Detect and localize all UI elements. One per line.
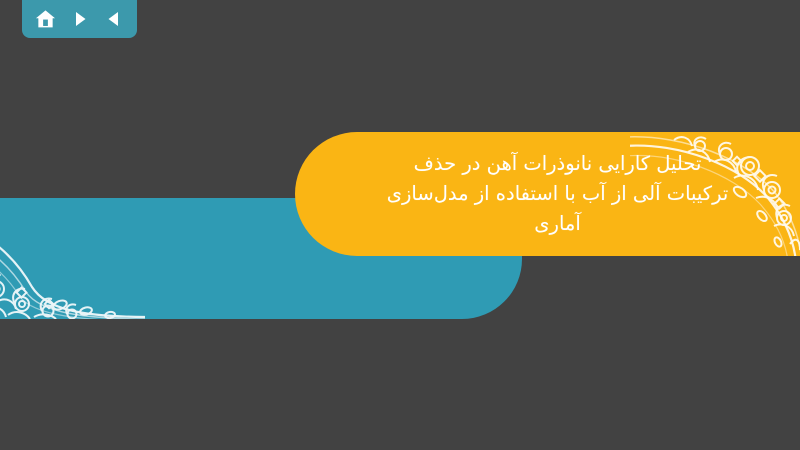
presentation-slide: تحلیل کارایی نانوذرات آهن در حذف ترکیبات… bbox=[0, 0, 800, 450]
slide-title-bar: تحلیل کارایی نانوذرات آهن در حذف ترکیبات… bbox=[295, 132, 800, 256]
triangle-left-icon bbox=[104, 9, 124, 29]
title-line-3: آماری bbox=[534, 212, 580, 235]
page-title: تحلیل کارایی نانوذرات آهن در حذف ترکیبات… bbox=[341, 149, 755, 240]
slide-navigation-bar bbox=[22, 0, 137, 38]
home-icon bbox=[34, 8, 57, 30]
title-line-1: تحلیل کارایی نانوذرات آهن در حذف bbox=[414, 152, 702, 175]
arabesque-ornament-teal bbox=[0, 209, 145, 319]
next-slide-button[interactable] bbox=[66, 5, 94, 33]
triangle-right-icon bbox=[70, 9, 90, 29]
previous-slide-button[interactable] bbox=[100, 5, 128, 33]
title-line-2: ترکیبات آلی از آب با استفاده از مدل‌سازی bbox=[387, 182, 729, 205]
home-slide-button[interactable] bbox=[31, 5, 59, 33]
